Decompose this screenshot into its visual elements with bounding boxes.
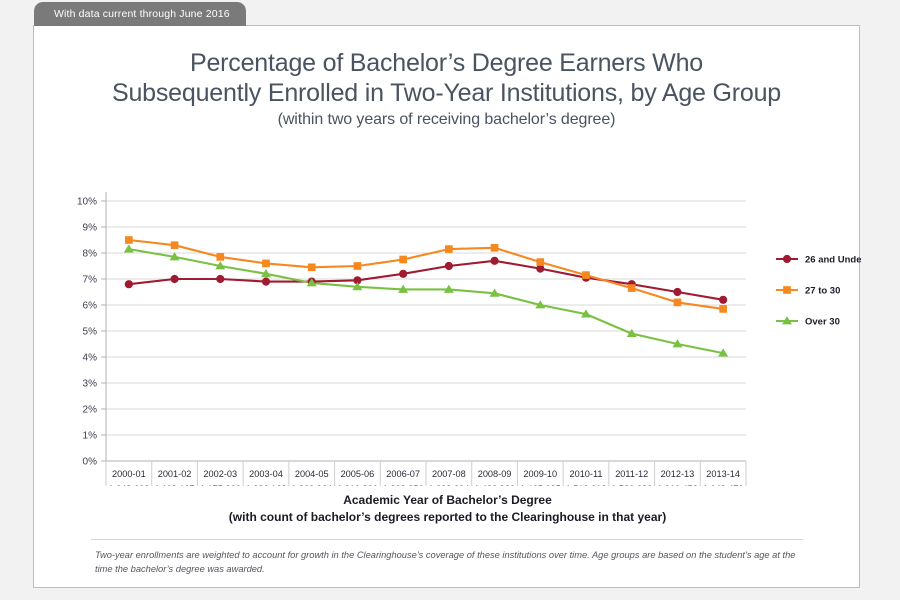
x-axis-count-label: 1,048,662	[108, 484, 149, 486]
y-axis-tick-label: 4%	[83, 353, 98, 364]
x-axis-year-label: 2003-04	[249, 469, 283, 479]
x-axis-caption-line1: Academic Year of Bachelor’s Degree	[34, 492, 861, 509]
y-axis-tick-label: 2%	[83, 405, 98, 416]
x-axis-year-label: 2005-06	[341, 469, 375, 479]
x-axis-count-label: 1,426,960	[474, 484, 515, 486]
y-axis-tick-label: 5%	[83, 327, 98, 338]
chart-title-line2: Subsequently Enrolled in Two-Year Instit…	[34, 78, 859, 108]
chart-title-line1: Percentage of Bachelor’s Degree Earners …	[34, 48, 859, 78]
series-data-point	[216, 275, 224, 283]
y-axis-tick-label: 0%	[83, 457, 98, 468]
series-data-point	[354, 262, 362, 270]
series-line	[129, 249, 723, 353]
x-axis-count-label: 1,616,453	[657, 484, 698, 486]
data-currency-tab: With data current through June 2016	[34, 2, 246, 26]
series-data-point	[125, 280, 133, 288]
series-data-point	[262, 260, 270, 268]
series-data-point	[445, 245, 453, 253]
x-axis-count-label: 1,269,964	[291, 484, 332, 486]
series-data-point	[491, 244, 499, 252]
series-data-point	[170, 275, 178, 283]
series-data-point	[673, 288, 681, 296]
legend-label: Over 30	[805, 316, 840, 327]
series-data-point	[124, 244, 134, 252]
series-line	[129, 240, 723, 309]
series-data-point	[216, 253, 224, 261]
line-chart-svg: 0%1%2%3%4%5%6%7%8%9%10%2000-011,048,6622…	[34, 166, 861, 486]
series-data-point	[399, 256, 407, 264]
x-axis-year-label: 2013-14	[706, 469, 740, 479]
screenshot-root: With data current through June 2016 Perc…	[0, 0, 900, 600]
x-axis-count-label: 1,519,018	[566, 484, 607, 486]
x-axis-count-label: 1,642,473	[703, 484, 744, 486]
x-axis-caption-line2: (with count of bachelor’s degrees report…	[34, 509, 861, 526]
y-axis-tick-label: 7%	[83, 275, 98, 286]
series-data-point	[628, 284, 636, 292]
x-axis-year-label: 2001-02	[158, 469, 192, 479]
x-axis-year-label: 2007-08	[432, 469, 466, 479]
y-axis-tick-label: 1%	[83, 431, 98, 442]
x-axis-year-label: 2010-11	[569, 469, 602, 479]
legend-marker	[783, 255, 791, 263]
x-axis-caption: Academic Year of Bachelor’s Degree (with…	[34, 492, 861, 526]
x-axis-count-label: 1,319,820	[337, 484, 378, 486]
series-data-point	[171, 241, 179, 249]
x-axis-count-label: 1,175,366	[200, 484, 241, 486]
y-axis-tick-label: 6%	[83, 301, 98, 312]
x-axis-year-label: 2000-01	[112, 469, 146, 479]
series-data-point	[719, 305, 727, 313]
x-axis-year-label: 2008-09	[478, 469, 512, 479]
footnote-text: Two-year enrollments are weighted to acc…	[95, 548, 801, 576]
series-data-point	[399, 270, 407, 278]
y-axis-tick-label: 3%	[83, 379, 98, 390]
legend-marker	[783, 286, 791, 294]
series-data-point	[445, 262, 453, 270]
legend-label: 27 to 30	[805, 285, 840, 296]
series-data-point	[125, 236, 133, 244]
chart-card: Percentage of Bachelor’s Degree Earners …	[33, 25, 860, 588]
legend-label: 26 and Under	[805, 254, 861, 265]
series-data-point	[308, 263, 316, 271]
series-data-point	[536, 258, 544, 266]
x-axis-count-label: 1,113,137	[154, 484, 194, 486]
y-axis-tick-label: 10%	[77, 197, 97, 208]
chart-title-block: Percentage of Bachelor’s Degree Earners …	[34, 48, 859, 132]
data-currency-tab-label: With data current through June 2016	[54, 8, 230, 20]
series-data-point	[719, 296, 727, 304]
y-axis-tick-label: 9%	[83, 223, 98, 234]
x-axis-year-label: 2002-03	[203, 469, 237, 479]
x-axis-count-label: 1,362,856	[383, 484, 424, 486]
x-axis-count-label: 1,580,626	[611, 484, 652, 486]
x-axis-year-label: 2012-13	[661, 469, 695, 479]
x-axis-count-label: 1,230,163	[246, 484, 287, 486]
chart-plot-area: 0%1%2%3%4%5%6%7%8%9%10%2000-011,048,6622…	[34, 166, 861, 476]
y-axis-tick-label: 8%	[83, 249, 98, 260]
x-axis-year-label: 2006-07	[386, 469, 420, 479]
series-data-point	[582, 271, 590, 279]
x-axis-year-label: 2011-12	[615, 469, 648, 479]
series-data-point	[674, 299, 682, 307]
x-axis-year-label: 2004-05	[295, 469, 329, 479]
x-axis-year-label: 2009-10	[523, 469, 557, 479]
footnote-divider	[91, 539, 803, 540]
x-axis-count-label: 1,393,234	[428, 484, 469, 486]
chart-subtitle: (within two years of receiving bachelor’…	[34, 108, 859, 132]
series-data-point	[262, 278, 270, 286]
series-data-point	[490, 257, 498, 265]
x-axis-count-label: 1,465,625	[520, 484, 561, 486]
